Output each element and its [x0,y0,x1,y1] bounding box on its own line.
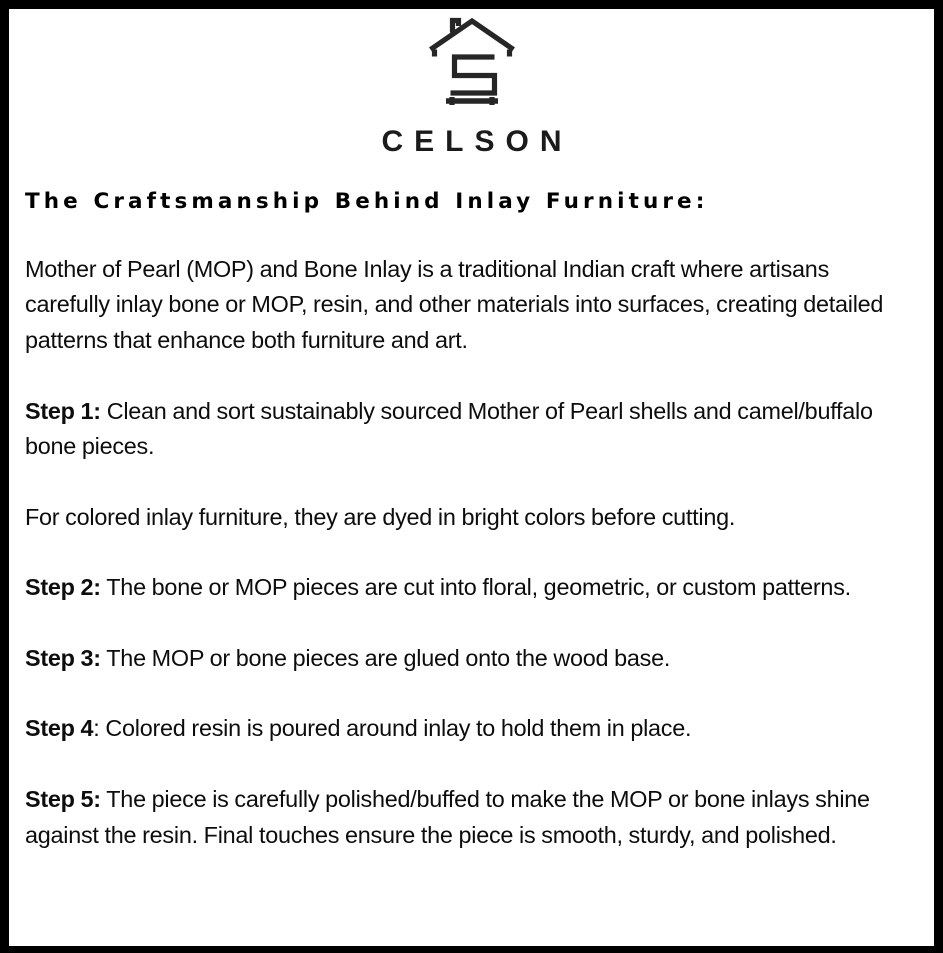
step-paragraph-6: Step 5: The piece is carefully polished/… [25,782,899,853]
step-label-4: Step 3: [25,645,101,671]
intro-paragraph: Mother of Pearl (MOP) and Bone Inlay is … [25,252,899,359]
step-paragraph-5: Step 4: Colored resin is poured around i… [25,711,899,747]
house-monogram-logo-icon [424,13,520,113]
brand-block: CELSON [16,9,927,157]
step-paragraph-2: For colored inlay furniture, they are dy… [25,500,899,536]
step-paragraph-1: Step 1: Clean and sort sustainably sourc… [25,394,899,465]
step-text-2: For colored inlay furniture, they are dy… [25,504,735,530]
step-text-1: Clean and sort sustainably sourced Mothe… [25,398,873,460]
step-label-6: Step 5: [25,786,101,812]
step-label-3: Step 2: [25,574,101,600]
brand-wordmark: CELSON [16,127,927,157]
step-label-1: Step 1: [25,398,101,424]
step-label-5: Step 4 [25,715,93,741]
step-paragraph-4: Step 3: The MOP or bone pieces are glued… [25,641,899,677]
page-title: The Craftsmanship Behind Inlay Furniture… [25,190,927,215]
step-text-6: The piece is carefully polished/buffed t… [25,786,870,848]
step-paragraph-3: Step 2: The bone or MOP pieces are cut i… [25,570,899,606]
step-text-5: : Colored resin is poured around inlay t… [93,715,691,741]
step-text-4: The MOP or bone pieces are glued onto th… [101,645,670,671]
step-text-3: The bone or MOP pieces are cut into flor… [101,574,851,600]
poster-content: CELSON The Craftsmanship Behind Inlay Fu… [9,9,934,946]
article-body: Mother of Pearl (MOP) and Bone Inlay is … [25,252,927,854]
poster-frame: CELSON The Craftsmanship Behind Inlay Fu… [0,0,943,953]
